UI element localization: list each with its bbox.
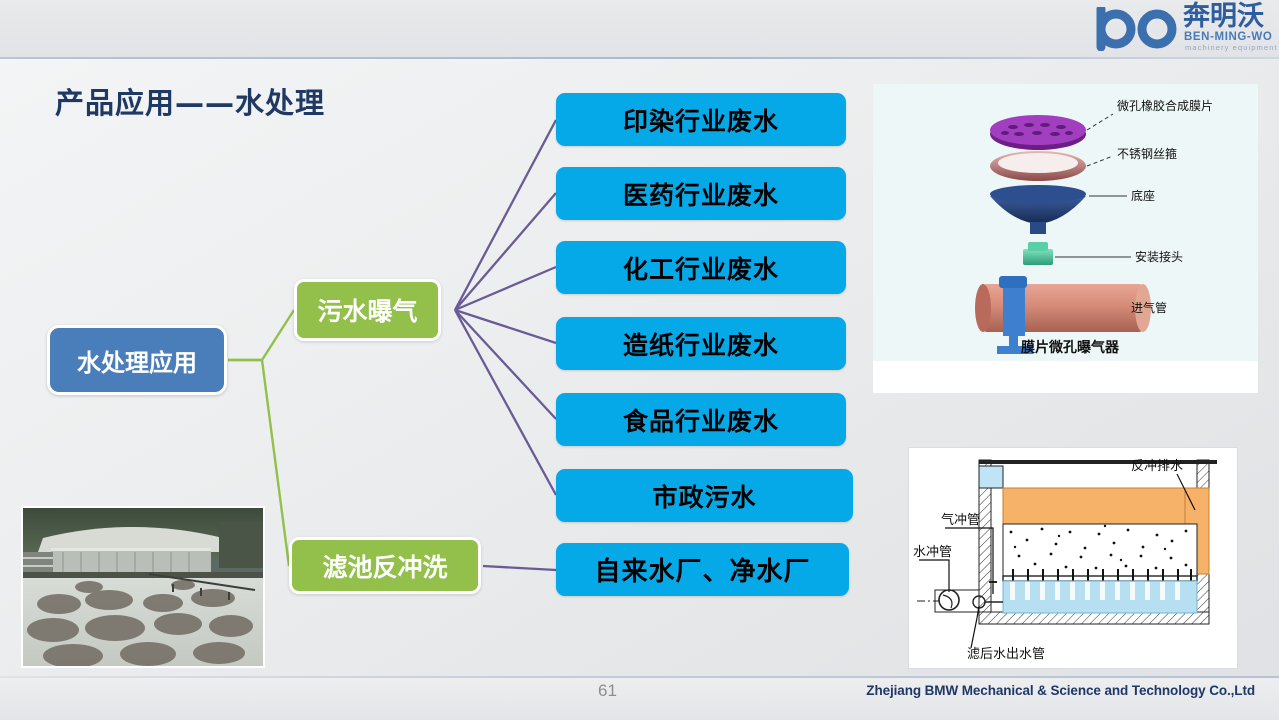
node-leaf-food-wastewater[interactable]: 食品行业废水 xyxy=(556,393,846,446)
svg-text:反冲排水: 反冲排水 xyxy=(1131,459,1183,474)
node-leaf-chemical-wastewater[interactable]: 化工行业废水 xyxy=(556,241,846,294)
filter-backwash-diagram: 反冲排水 气冲管 水冲管 滤后水出水管 xyxy=(908,447,1238,669)
node-branch-filter-backwash[interactable]: 滤池反冲洗 xyxy=(289,537,481,594)
svg-text:气冲管: 气冲管 xyxy=(941,512,980,528)
svg-text:微孔橡胶合成膜片: 微孔橡胶合成膜片 xyxy=(1117,98,1213,113)
svg-text:底座: 底座 xyxy=(1131,188,1155,203)
membrane-diagram-bottom-strip xyxy=(873,361,1258,393)
svg-text:水冲管: 水冲管 xyxy=(913,545,952,560)
membrane-diffuser-diagram: 微孔橡胶合成膜片 不锈钢丝箍 底座 安装接头 进气管 膜片微孔曝气器 xyxy=(873,84,1258,361)
svg-text:不锈钢丝箍: 不锈钢丝箍 xyxy=(1117,146,1177,161)
node-leaf-pharmaceutical-wastewater[interactable]: 医药行业废水 xyxy=(556,167,846,220)
svg-text:滤后水出水管: 滤后水出水管 xyxy=(967,647,1045,662)
node-root-water-treatment[interactable]: 水处理应用 xyxy=(47,325,227,395)
svg-text:膜片微孔曝气器: 膜片微孔曝气器 xyxy=(1021,339,1120,356)
node-branch-sewage-aeration[interactable]: 污水曝气 xyxy=(294,279,441,341)
node-leaf-municipal-sewage[interactable]: 市政污水 xyxy=(556,469,853,522)
slide-canvas: 奔明沃 BEN-MING-WO machinery equipment 产品应用… xyxy=(0,0,1279,720)
node-leaf-printing-dyeing-wastewater[interactable]: 印染行业废水 xyxy=(556,93,846,146)
aeration-tank-photo xyxy=(21,506,265,668)
svg-text:进气管: 进气管 xyxy=(1131,300,1167,315)
node-leaf-waterworks-purification-plant[interactable]: 自来水厂、净水厂 xyxy=(556,543,849,596)
svg-text:安装接头: 安装接头 xyxy=(1135,249,1183,264)
node-leaf-papermaking-wastewater[interactable]: 造纸行业废水 xyxy=(556,317,846,370)
